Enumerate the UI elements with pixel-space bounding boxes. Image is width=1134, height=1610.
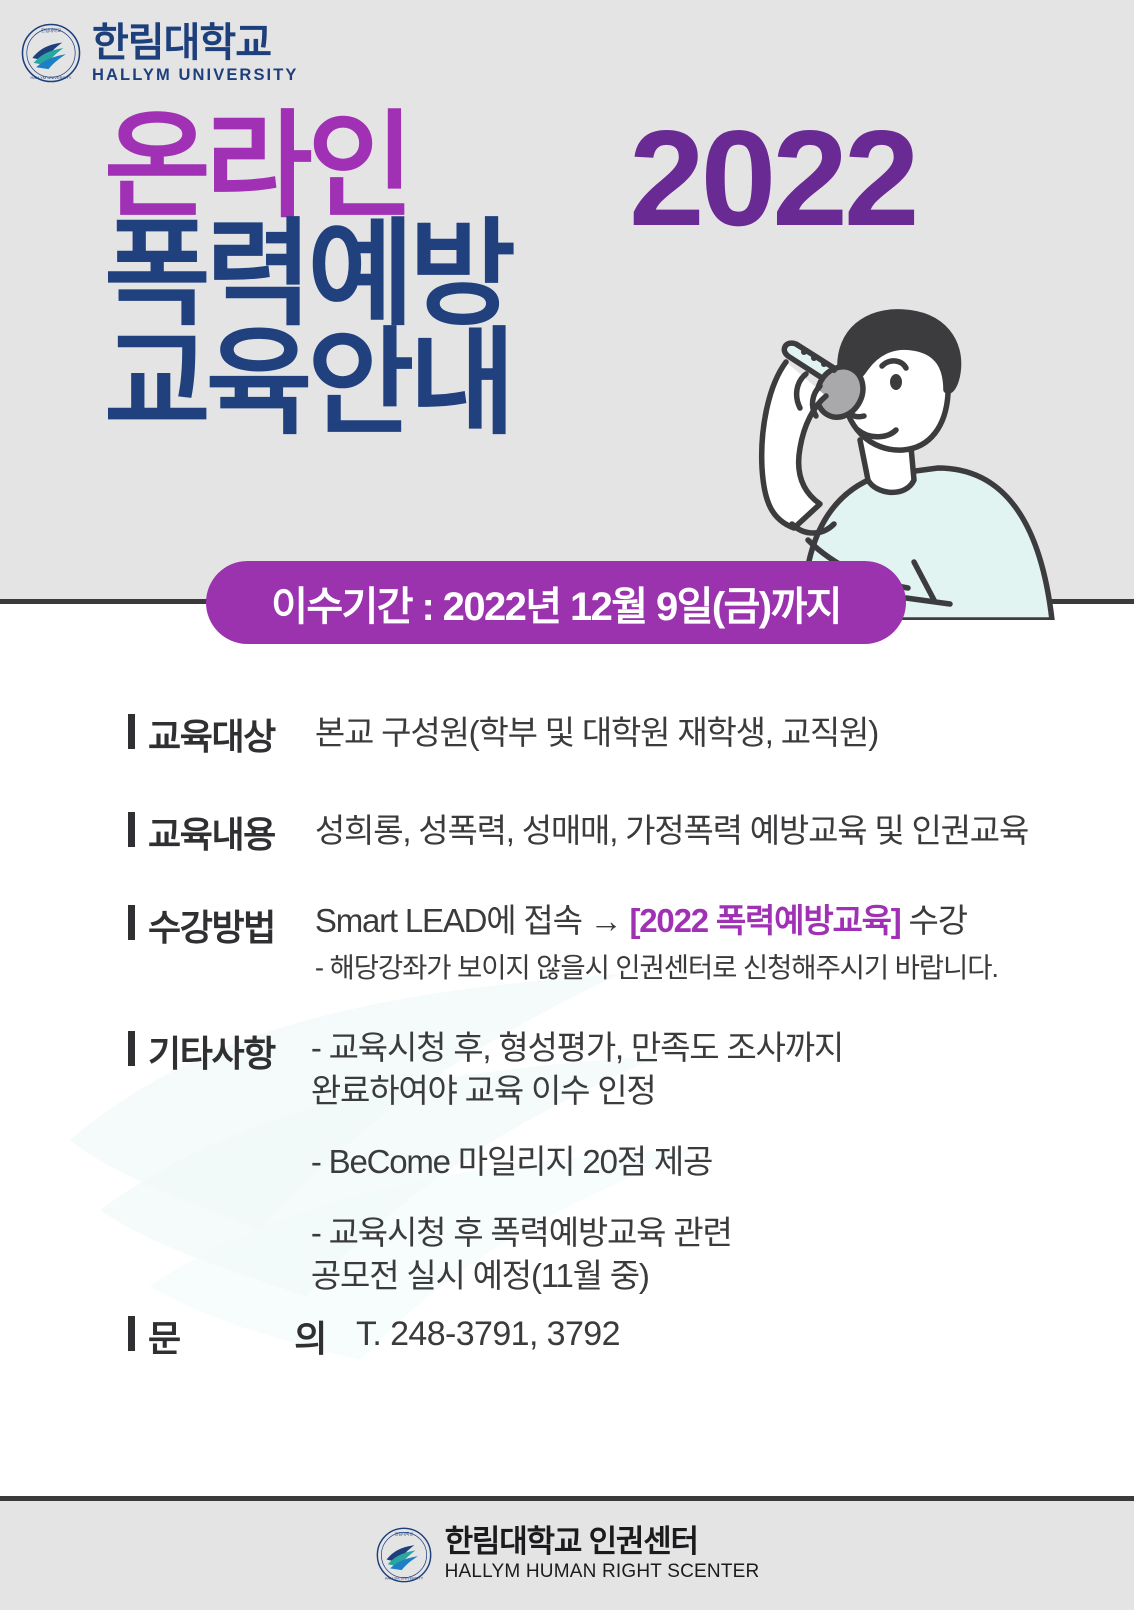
info-row-method: 수강방법 Smart LEAD에 접속 → [2022 폭력예방교육] 수강 -…: [128, 899, 998, 985]
logo-name-en: HALLYM UNIVERSITY: [92, 67, 299, 84]
footer-band: 한림대학교 HALLYM UNIVERSITY 한림대학교 인권센터 HALLY…: [0, 1501, 1134, 1610]
svg-text:한림대학교: 한림대학교: [41, 27, 61, 34]
list-item: - 교육시청 후, 형성평가, 만족도 조사까지 완료하여야 교육 이수 인정: [311, 1027, 843, 1113]
method-text-post: 수강: [901, 902, 967, 939]
row-label: 교육내용: [148, 806, 275, 858]
row-label: 기타사항: [148, 1025, 275, 1077]
title-line-3: 교육안내: [104, 329, 511, 437]
list-item: - BeCome 마일리지 20점 제공: [311, 1141, 843, 1184]
poster-title: 온라인 폭력예방 교육안내: [104, 112, 511, 437]
notes-bullet-list: - 교육시청 후, 형성평가, 만족도 조사까지 완료하여야 교육 이수 인정 …: [311, 1027, 843, 1297]
row-tick-icon: [128, 905, 135, 940]
method-course-highlight: [2022 폭력예방교육]: [629, 902, 900, 939]
content-area: 교육대상 본교 구성원(학부 및 대학원 재학생, 교직원) 교육내용 성희롱,…: [0, 602, 1134, 1498]
svg-text:HALLYM UNIVERSITY: HALLYM UNIVERSITY: [31, 75, 72, 80]
poster-root: 한림대학교 HALLYM UNIVERSITY 한림대학교 HALLYM UNI…: [0, 0, 1134, 1610]
row-tick-icon: [128, 714, 135, 749]
svg-text:한림대학교: 한림대학교: [394, 1530, 413, 1536]
contact-phone: T. 248-3791, 3792: [356, 1312, 620, 1358]
title-line-2: 폭력예방: [104, 220, 511, 328]
university-logo: 한림대학교 HALLYM UNIVERSITY 한림대학교 HALLYM UNI…: [20, 22, 299, 84]
contact-label-right: 의: [294, 1310, 326, 1362]
info-row-content: 교육내용 성희롱, 성폭력, 성매매, 가정폭력 예방교육 및 인권교육: [128, 806, 1028, 858]
footer-name-ko: 한림대학교 인권센터: [445, 1526, 760, 1559]
contact-label-left: 문: [148, 1310, 180, 1362]
row-label: 수강방법: [148, 899, 275, 951]
row-tick-icon: [128, 1031, 135, 1066]
method-note: - 해당강좌가 보이지 않을시 인권센터로 신청해주시기 바랍니다.: [315, 945, 998, 985]
info-row-contact: 문 의 T. 248-3791, 3792: [128, 1310, 620, 1362]
footer-name-en: HALLYM HUMAN RIGHT SCENTER: [445, 1562, 760, 1583]
row-label: 교육대상: [148, 708, 275, 760]
hallym-wave-emblem-icon: 한림대학교 HALLYM UNIVERSITY: [20, 22, 82, 84]
logo-name-ko: 한림대학교: [92, 23, 299, 64]
row-value: 본교 구성원(학부 및 대학원 재학생, 교직원): [315, 711, 878, 755]
row-tick-icon: [128, 1316, 135, 1351]
row-label: 문 의: [148, 1310, 326, 1362]
row-tick-icon: [128, 812, 135, 847]
row-value: 성희롱, 성폭력, 성매매, 가정폭력 예방교육 및 인권교육: [315, 809, 1028, 853]
info-row-notes: 기타사항 - 교육시청 후, 형성평가, 만족도 조사까지 완료하여야 교육 이…: [128, 1025, 843, 1297]
row-value: Smart LEAD에 접속 → [2022 폭력예방교육] 수강: [315, 902, 967, 939]
method-text-pre: Smart LEAD에 접속 →: [315, 902, 630, 939]
title-line-1: 온라인: [104, 112, 511, 220]
list-item: - 교육시청 후 폭력예방교육 관련 공모전 실시 예정(11월 중): [311, 1212, 843, 1298]
hallym-wave-emblem-icon: 한림대학교 HALLYM UNIVERSITY: [375, 1526, 433, 1584]
svg-text:HALLYM UNIVERSITY: HALLYM UNIVERSITY: [384, 1576, 423, 1580]
year-label: 2022: [629, 110, 916, 246]
info-row-target: 교육대상 본교 구성원(학부 및 대학원 재학생, 교직원): [128, 708, 878, 760]
